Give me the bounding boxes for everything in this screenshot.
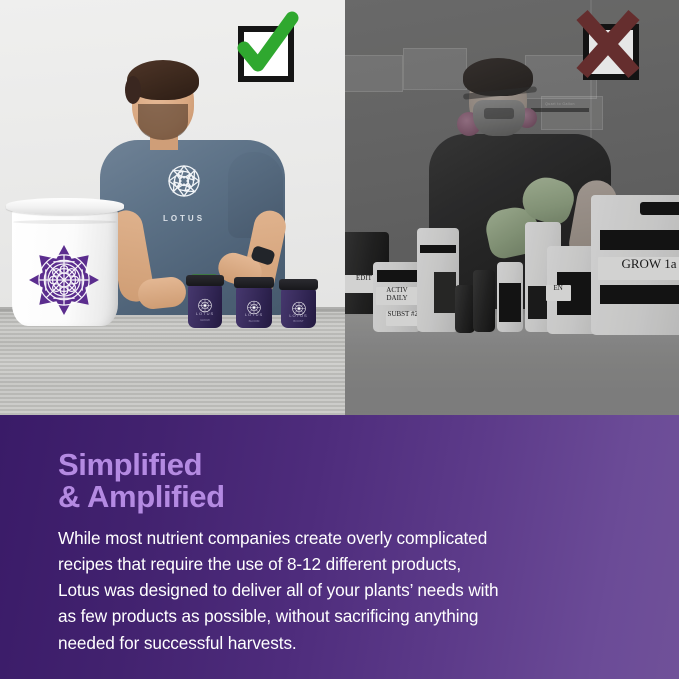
jar-lid <box>186 275 224 286</box>
jar-lid <box>234 277 274 288</box>
heading-line-2: & Amplified <box>58 481 225 513</box>
shirt-lotus-logo: LOTUS <box>154 156 214 230</box>
beard <box>138 104 188 140</box>
body-line: as few products as possible, without sac… <box>58 603 603 629</box>
jar-brand-text: LOTUS <box>188 311 222 316</box>
bottle-label-text: GROW 1a <box>598 257 679 271</box>
nutrient-bottle: ACTIV DAILY SUBST #2 <box>373 262 421 332</box>
hair <box>127 60 199 100</box>
body-line: needed for successful harvests. <box>58 630 603 656</box>
page-title: Simplified & Amplified <box>58 449 225 513</box>
jar-brand-text: LOTUS <box>236 312 272 317</box>
bottle-black-bar <box>600 230 679 250</box>
bottle-black-bar <box>377 270 417 282</box>
bottle-black-bar <box>420 245 455 253</box>
jug-handle <box>640 202 679 215</box>
lotus-grower-person: LOTUS <box>100 60 285 310</box>
nutrient-bottle <box>455 285 475 333</box>
bucket-lip-line <box>13 220 117 224</box>
jar-variant-text: BOOST <box>281 319 316 323</box>
lotus-jar: LOTUS BLOOM <box>236 286 272 328</box>
bottle-sticker: SUBST #2 <box>386 311 419 326</box>
x-mark-badge <box>577 18 635 76</box>
check-mark-icon <box>230 8 304 82</box>
nutrient-bottle <box>417 228 459 332</box>
body-line: Lotus was designed to deliver all of you… <box>58 577 603 603</box>
lotus-mandala-icon <box>159 156 209 206</box>
jar-variant-text: BLOOM <box>236 319 272 323</box>
bucket-rim <box>6 198 124 215</box>
check-mark-badge <box>232 20 290 78</box>
body-line: recipes that require the use of 8-12 dif… <box>58 551 603 577</box>
marketing-copy-panel: Simplified & Amplified While most nutrie… <box>0 415 679 679</box>
lotus-jar: LOTUS GROW <box>188 284 222 328</box>
bucket-lotus-mandala-icon <box>26 242 102 318</box>
bottle-body <box>473 270 495 332</box>
bottle-body <box>455 285 475 333</box>
nutrient-bottle <box>473 270 495 332</box>
bottle-label: EN <box>546 285 571 301</box>
respirator-mask-icon <box>473 100 525 136</box>
x-mark-icon <box>573 10 643 80</box>
body-line: While most nutrient companies create ove… <box>58 525 603 551</box>
comparison-photo-strip: LOTUS <box>0 0 679 415</box>
wall-paper-sheet <box>345 55 403 92</box>
lotus-jar: LOTUS BOOST <box>281 288 316 328</box>
good-practice-photo: LOTUS <box>0 0 345 415</box>
grow-jug: GROW 1a <box>591 195 679 335</box>
heading-line-1: Simplified <box>58 447 202 482</box>
shirt-logo-text: LOTUS <box>154 214 214 223</box>
jar-lid <box>279 279 318 290</box>
bottle-black-bar <box>600 285 679 305</box>
jar-brand-text: LOTUS <box>281 313 316 318</box>
bad-practice-photo: Quart to Gallon EDIT <box>345 0 679 415</box>
bottle-black-bar <box>499 283 521 322</box>
bottle-label: GROW 1a <box>598 257 679 281</box>
nutrient-bottle <box>497 262 523 332</box>
bottle-label-text: EN <box>546 285 571 292</box>
bottle-sticker-text: SUBST #2 <box>386 311 419 318</box>
bottle-black-bar <box>434 272 456 314</box>
bottle-sublabel-text: DAILY <box>376 295 418 302</box>
body-copy: While most nutrient companies create ove… <box>58 525 603 656</box>
marketing-infographic: LOTUS <box>0 0 679 679</box>
jar-variant-text: GROW <box>188 318 222 322</box>
bottle-label: ACTIV DAILY <box>376 287 418 305</box>
lotus-bucket <box>6 198 124 326</box>
